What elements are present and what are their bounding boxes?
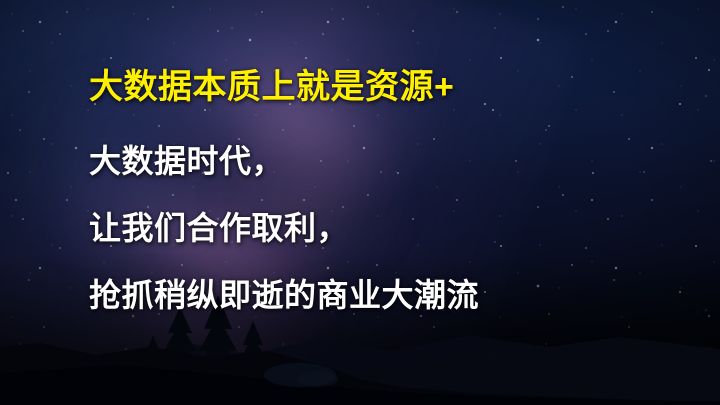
- slide-body-line-1: 大数据时代，: [89, 128, 689, 195]
- slide-text-block: 大数据本质上就是资源+ 大数据时代， 让我们合作取利， 抢抓稍纵即逝的商业大潮流: [89, 62, 689, 329]
- slide-headline: 大数据本质上就是资源+: [89, 62, 689, 112]
- slide-body-line-3: 抢抓稍纵即逝的商业大潮流: [89, 262, 689, 329]
- slide-body-line-2: 让我们合作取利，: [89, 195, 689, 262]
- slide-canvas: 大数据本质上就是资源+ 大数据时代， 让我们合作取利， 抢抓稍纵即逝的商业大潮流: [0, 0, 720, 405]
